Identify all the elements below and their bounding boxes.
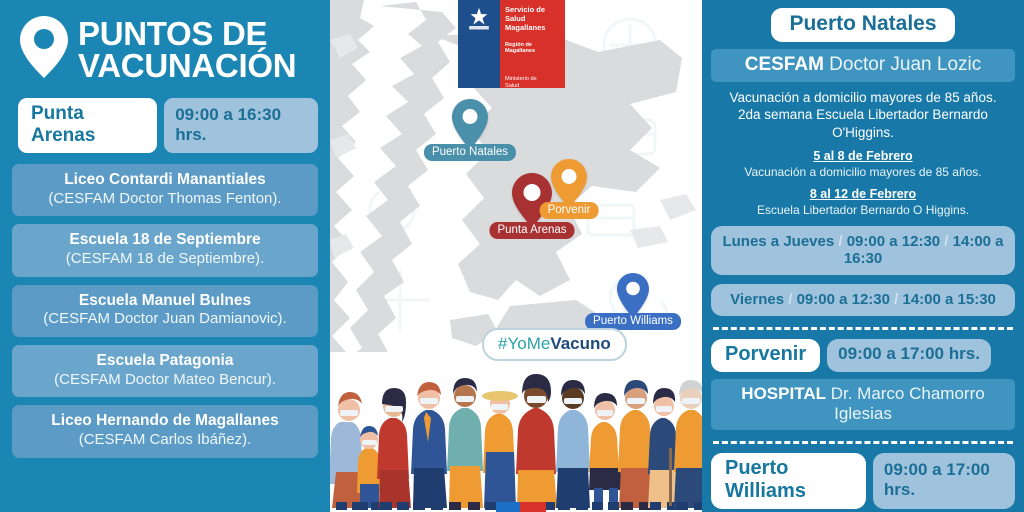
point-name: Escuela 18 de Septiembre (20, 231, 310, 250)
vaccination-points-poster: PUNTOS DE VACUNACIÓN Punta Arenas 09:00 … (0, 0, 1024, 512)
poster-title-row: PUNTOS DE VACUNACIÓN (12, 10, 318, 87)
campaign-badge: #YoMeVacuno (482, 328, 627, 361)
government-logo: Servicio deSaludMagallanes Región deMaga… (458, 0, 565, 88)
point-subtitle: (CESFAM 18 de Septiembre). (20, 250, 310, 269)
city-badge-puerto-williams: Puerto Williams (711, 453, 866, 509)
porvenir-header: Porvenir 09:00 a 17:00 hrs. (711, 339, 1015, 372)
cesfam-label: CESFAM (745, 54, 824, 75)
map-pin-icon (18, 14, 70, 85)
map-marker-porvenir[interactable]: Porvenir (549, 158, 589, 210)
map-marker-puerto-natales[interactable]: Puerto Natales (450, 98, 490, 152)
point-subtitle: (CESFAM Doctor Thomas Fenton). (20, 190, 310, 209)
people-illustration (330, 352, 702, 512)
list-item: Liceo Hernando de Magallanes (CESFAM Car… (12, 405, 318, 457)
point-name: Escuela Patagonia (20, 352, 310, 371)
divider-2 (713, 441, 1013, 444)
cesfam-name: Doctor Juan Lozic (824, 54, 981, 75)
list-item: Liceo Contardi Manantiales (CESFAM Docto… (12, 164, 318, 216)
punta-arenas-points-list: Liceo Contardi Manantiales (CESFAM Docto… (12, 164, 318, 458)
list-item: Escuela 18 de Septiembre (CESFAM 18 de S… (12, 224, 318, 276)
hours-badge-punta-arenas: 09:00 a 16:30 hrs. (164, 98, 318, 153)
point-subtitle: (CESFAM Carlos Ibáñez). (20, 431, 310, 450)
city-badge-porvenir: Porvenir (711, 339, 820, 372)
schedule-days: Lunes a Jueves (722, 233, 834, 250)
marker-label: Porvenir (540, 202, 599, 219)
cesfam-note: Vacunación a domicilio mayores de 85 año… (711, 89, 1015, 141)
point-name: Liceo Hernando de Magallanes (20, 412, 310, 431)
map-marker-puerto-williams[interactable]: Puerto Williams (615, 272, 651, 320)
logo-service-name: Servicio deSaludMagallanes (505, 6, 561, 33)
point-name: Liceo Contardi Manantiales (20, 171, 310, 190)
note-line-2: 2da semana Escuela Libertador Bernardo O… (711, 106, 1015, 141)
divider-1 (713, 327, 1013, 330)
logo-region-name: Región deMagallanes (505, 42, 561, 55)
map-marker-punta-arenas[interactable]: Punta Arenas (510, 172, 554, 230)
note-line-1: Vacunación a domicilio mayores de 85 año… (711, 89, 1015, 106)
marker-label: Punta Arenas (489, 222, 574, 239)
schedule-afternoon: 14:00 a 15:30 (902, 291, 995, 308)
date-range-1: 5 al 8 de Febrero (711, 149, 1015, 163)
hospital-label: HOSPITAL (741, 384, 826, 403)
logo-ministry-name: Ministerio deSalud (505, 76, 561, 89)
point-subtitle: (CESFAM Doctor Mateo Bencur). (20, 371, 310, 390)
right-panel: Puerto Natales CESFAM Doctor Juan Lozic … (702, 0, 1024, 512)
schedule-morning: 09:00 a 12:30 (797, 291, 890, 308)
point-name: Escuela Manuel Bulnes (20, 292, 310, 311)
list-item: Escuela Patagonia (CESFAM Doctor Mateo B… (12, 345, 318, 397)
coat-of-arms-icon (465, 6, 493, 32)
city-badge-punta-arenas: Punta Arenas (18, 98, 157, 153)
marker-label: Puerto Natales (424, 144, 516, 161)
date-range-2: 8 al 12 de Febrero (711, 187, 1015, 201)
schedule-row-friday: Viernes / 09:00 a 12:30 / 14:00 a 15:30 (711, 284, 1015, 316)
point-subtitle: (CESFAM Doctor Juan Damianovic). (20, 310, 310, 329)
logo-blue-block (458, 0, 500, 88)
campaign-hash-text: #YoMe (498, 334, 550, 353)
list-item: Escuela Manuel Bulnes (CESFAM Doctor Jua… (12, 285, 318, 337)
puerto-williams-header: Puerto Williams 09:00 a 17:00 hrs. (711, 453, 1015, 509)
date-range-1-detail: Vacunación a domicilio mayores de 85 año… (711, 165, 1015, 179)
date-range-2-detail: Escuela Libertador Bernardo O Higgins. (711, 203, 1015, 217)
title-line-2: VACUNACIÓN (78, 50, 296, 82)
schedule-row-weekdays: Lunes a Jueves / 09:00 a 12:30 / 14:00 a… (711, 226, 1015, 275)
logo-red-block: Servicio deSaludMagallanes Región deMaga… (500, 0, 565, 88)
page-title: PUNTOS DE VACUNACIÓN (78, 18, 296, 81)
hours-badge-puerto-williams: 09:00 a 17:00 hrs. (873, 453, 1015, 509)
punta-arenas-header: Punta Arenas 09:00 a 16:30 hrs. (18, 98, 318, 153)
hours-badge-porvenir: 09:00 a 17:00 hrs. (827, 339, 991, 372)
porvenir-hospital: HOSPITAL Dr. Marco Chamorro Iglesias (711, 379, 1015, 430)
schedule-morning: 09:00 a 12:30 (847, 233, 940, 250)
schedule-days: Viernes (730, 291, 784, 308)
map-panel: Servicio deSaludMagallanes Región deMaga… (330, 0, 702, 512)
puerto-natales-header: Puerto Natales (711, 8, 1015, 42)
campaign-bold-text: Vacuno (550, 334, 610, 353)
left-panel: PUNTOS DE VACUNACIÓN Punta Arenas 09:00 … (0, 0, 330, 512)
cesfam-bar: CESFAM Doctor Juan Lozic (711, 49, 1015, 82)
hospital-name: Dr. Marco Chamorro Iglesias (826, 384, 985, 423)
city-badge-puerto-natales: Puerto Natales (771, 8, 954, 42)
